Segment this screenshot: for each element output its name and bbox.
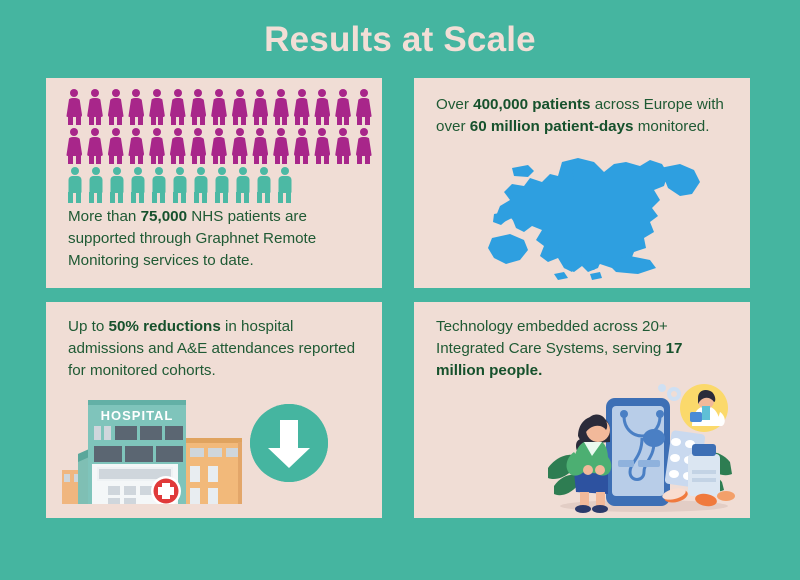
person-icon bbox=[127, 166, 148, 204]
stat-card-integrated-care-systems: Technology embedded across 20+ Integrate… bbox=[414, 302, 750, 518]
highlighted-stat: 400,000 patients bbox=[473, 96, 590, 113]
person-icon bbox=[211, 166, 232, 204]
person-icon bbox=[274, 166, 295, 204]
stat-card-europe-patients: Over 400,000 patients across Europe with… bbox=[414, 78, 750, 288]
body-text-run: More than bbox=[68, 208, 141, 225]
stat-card-admission-reductions-text: Up to 50% reductions in hospital admissi… bbox=[68, 316, 366, 382]
highlighted-stat: 60 million patient-days bbox=[470, 118, 634, 135]
pictogram-row bbox=[64, 88, 374, 126]
people-pictogram bbox=[64, 88, 374, 205]
person-icon bbox=[271, 127, 292, 165]
highlighted-stat: 50% reductions bbox=[109, 318, 221, 335]
stat-card-admission-reductions: Up to 50% reductions in hospital admissi… bbox=[46, 302, 382, 518]
person-icon bbox=[353, 88, 374, 126]
person-icon bbox=[250, 127, 271, 165]
body-text-run: monitored. bbox=[634, 118, 710, 135]
person-icon bbox=[169, 166, 190, 204]
person-icon bbox=[64, 166, 85, 204]
body-text-run: Up to bbox=[68, 318, 109, 335]
person-icon bbox=[291, 127, 312, 165]
person-icon bbox=[167, 88, 188, 126]
person-icon bbox=[105, 127, 126, 165]
person-icon bbox=[85, 166, 106, 204]
body-text-run: Technology embedded across 20+ Integrate… bbox=[436, 318, 668, 357]
person-icon bbox=[229, 88, 250, 126]
person-icon bbox=[312, 127, 333, 165]
person-icon bbox=[147, 127, 168, 165]
stat-card-europe-patients-text: Over 400,000 patients across Europe with… bbox=[436, 94, 734, 138]
person-icon bbox=[333, 88, 354, 126]
person-icon bbox=[229, 127, 250, 165]
person-icon bbox=[167, 127, 188, 165]
person-icon bbox=[126, 127, 147, 165]
person-icon bbox=[64, 127, 85, 165]
person-icon bbox=[85, 127, 106, 165]
person-icon bbox=[209, 127, 230, 165]
person-icon bbox=[209, 88, 230, 126]
person-icon bbox=[126, 88, 147, 126]
highlighted-stat: 75,000 bbox=[141, 208, 187, 225]
svg-text:HOSPITAL: HOSPITAL bbox=[101, 408, 174, 423]
person-icon bbox=[291, 88, 312, 126]
person-icon bbox=[188, 127, 209, 165]
person-icon bbox=[333, 127, 354, 165]
person-icon bbox=[148, 166, 169, 204]
person-icon bbox=[85, 88, 106, 126]
telemedicine-illustration bbox=[544, 382, 744, 516]
europe-map-icon bbox=[454, 156, 719, 281]
body-text-run: Over bbox=[436, 96, 473, 113]
person-icon bbox=[232, 166, 253, 204]
stat-card-patients-supported: More than 75,000 NHS patients are suppor… bbox=[46, 78, 382, 288]
hospital-building-icon: HOSPITAL bbox=[62, 392, 247, 504]
pictogram-row bbox=[64, 127, 374, 165]
person-icon bbox=[253, 166, 274, 204]
person-icon bbox=[312, 88, 333, 126]
down-arrow-reduction-icon bbox=[250, 404, 328, 482]
person-icon bbox=[190, 166, 211, 204]
pictogram-row bbox=[64, 166, 374, 204]
person-icon bbox=[250, 88, 271, 126]
person-icon bbox=[271, 88, 292, 126]
stat-card-integrated-care-systems-text: Technology embedded across 20+ Integrate… bbox=[436, 316, 734, 382]
stat-card-patients-supported-text: More than 75,000 NHS patients are suppor… bbox=[68, 206, 366, 272]
page-title: Results at Scale bbox=[0, 20, 800, 60]
person-icon bbox=[147, 88, 168, 126]
person-icon bbox=[106, 166, 127, 204]
person-icon bbox=[188, 88, 209, 126]
person-icon bbox=[105, 88, 126, 126]
person-icon bbox=[353, 127, 374, 165]
person-icon bbox=[64, 88, 85, 126]
